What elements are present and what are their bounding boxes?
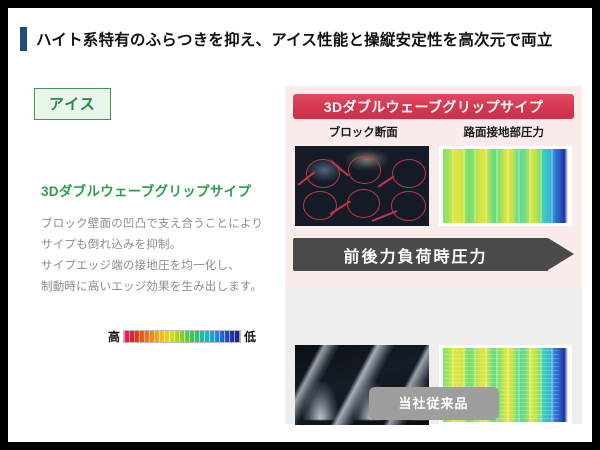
slide-header: ハイト系特有のふらつきを抑え、アイス性能と操縦安定性を高次元で両立: [20, 24, 582, 54]
annotation-line: [377, 176, 393, 188]
pressure-wave-overlay: [443, 149, 564, 223]
category-badge-ice: アイス: [34, 88, 111, 120]
annotation-circle: [348, 156, 381, 184]
load-condition-banner-body: 前後力負荷時圧力: [293, 238, 548, 271]
description-line: 制動時に高いエッジ効果を生み出します。: [41, 277, 281, 298]
header-accent-bar: [20, 27, 27, 51]
slide: ハイト系特有のふらつきを抑え、アイス性能と操縦安定性を高次元で両立 アイス 3D…: [8, 8, 592, 442]
pressure-color-legend: 高 低: [108, 328, 256, 345]
photo-highlight: [303, 382, 338, 420]
new-pressure-map-image: [439, 146, 573, 226]
pressure-map-new: [439, 146, 573, 226]
load-condition-banner: 前後力負荷時圧力: [293, 238, 574, 271]
legend-low-label: 低: [244, 328, 256, 345]
conventional-image-wrapper: [285, 287, 582, 387]
description-line: サイプエッジ端の接地圧を均一化し、: [41, 256, 281, 277]
conventional-product-label-text: 当社従来品: [398, 396, 468, 411]
feature-heading: 3Dダブルウェーブグリップサイプ: [41, 180, 251, 200]
product-banner-label: 3Dダブルウェーブグリップサイプ: [324, 97, 543, 117]
column-header-block-section: ブロック断面: [293, 124, 434, 142]
annotation-circle: [391, 191, 426, 221]
category-badge-label: アイス: [49, 96, 96, 113]
feature-description: ブロック壁面の凹凸で支え合うことにより サイプも倒れ込みを抑制。 サイプエッジ端…: [41, 214, 281, 298]
product-banner: 3Dダブルウェーブグリップサイプ: [293, 94, 574, 119]
annotation-circle: [303, 191, 337, 220]
annotation-circle: [392, 159, 426, 188]
conventional-product-label: 当社従来品: [368, 387, 498, 420]
pressure-edge-band: [559, 348, 568, 422]
column-headers: ブロック断面 路面接地部圧力: [293, 124, 574, 142]
new-product-image-row: [295, 146, 572, 226]
legend-high-label: 高: [108, 328, 120, 345]
pressure-bands: [443, 149, 564, 223]
comparison-panel: 3Dダブルウェーブグリップサイプ ブロック断面 路面接地部圧力: [285, 86, 582, 424]
column-header-pressure: 路面接地部圧力: [434, 124, 575, 142]
new-block-section-image: [295, 146, 429, 226]
description-line: サイプも倒れ込みを抑制。: [41, 235, 281, 256]
legend-gradient-bar: [123, 330, 241, 343]
load-condition-banner-arrow-tip: [548, 238, 574, 270]
page-title: ハイト系特有のふらつきを抑え、アイス性能と操縦安定性を高次元で両立: [36, 28, 553, 50]
description-line: ブロック壁面の凹凸で支え合うことにより: [41, 214, 281, 235]
pressure-edge-band: [559, 149, 568, 223]
block-cross-section-photo: [295, 146, 429, 226]
annotation-circle: [347, 189, 380, 217]
load-condition-label: 前後力負荷時圧力: [343, 243, 487, 267]
